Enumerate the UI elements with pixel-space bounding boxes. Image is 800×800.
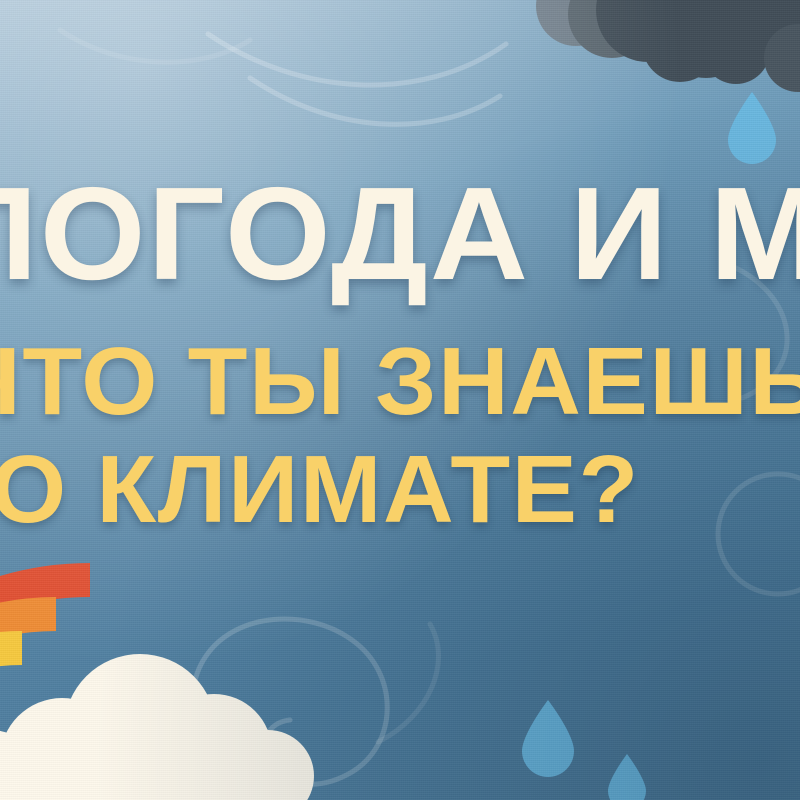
wind-swirl-bottom-left-2-icon — [378, 624, 438, 742]
wind-swirl-top-left-icon — [60, 30, 250, 62]
wind-swirl-bottom-left-icon — [193, 619, 387, 784]
wind-swirl-top-center-icon — [208, 34, 506, 85]
raindrop-bottom-right-icon — [608, 754, 646, 800]
storm-cloud-top-right-icon — [536, 0, 800, 92]
raindrop-top-right-large-icon — [728, 92, 776, 164]
poster-title-subline-2: О КЛИМАТЕ? — [0, 442, 640, 538]
wind-swirl-bottom-right-icon — [718, 474, 800, 594]
raindrop-bottom-mid-icon — [522, 700, 574, 777]
white-cloud-bottom-left-icon — [0, 654, 314, 800]
wind-swirl-top-right-icon — [560, 10, 752, 37]
poster-title-subline-1: ЧТО ТЫ ЗНАЕШЬ — [0, 334, 800, 430]
poster-canvas: ПОГОДА И МЫ ЧТО ТЫ ЗНАЕШЬ О КЛИМАТЕ? — [0, 0, 800, 800]
poster-title-main: ПОГОДА И МЫ — [0, 168, 800, 300]
rainbow-bottom-left-icon — [0, 580, 90, 800]
wind-swirl-top-center-2-icon — [250, 78, 500, 124]
